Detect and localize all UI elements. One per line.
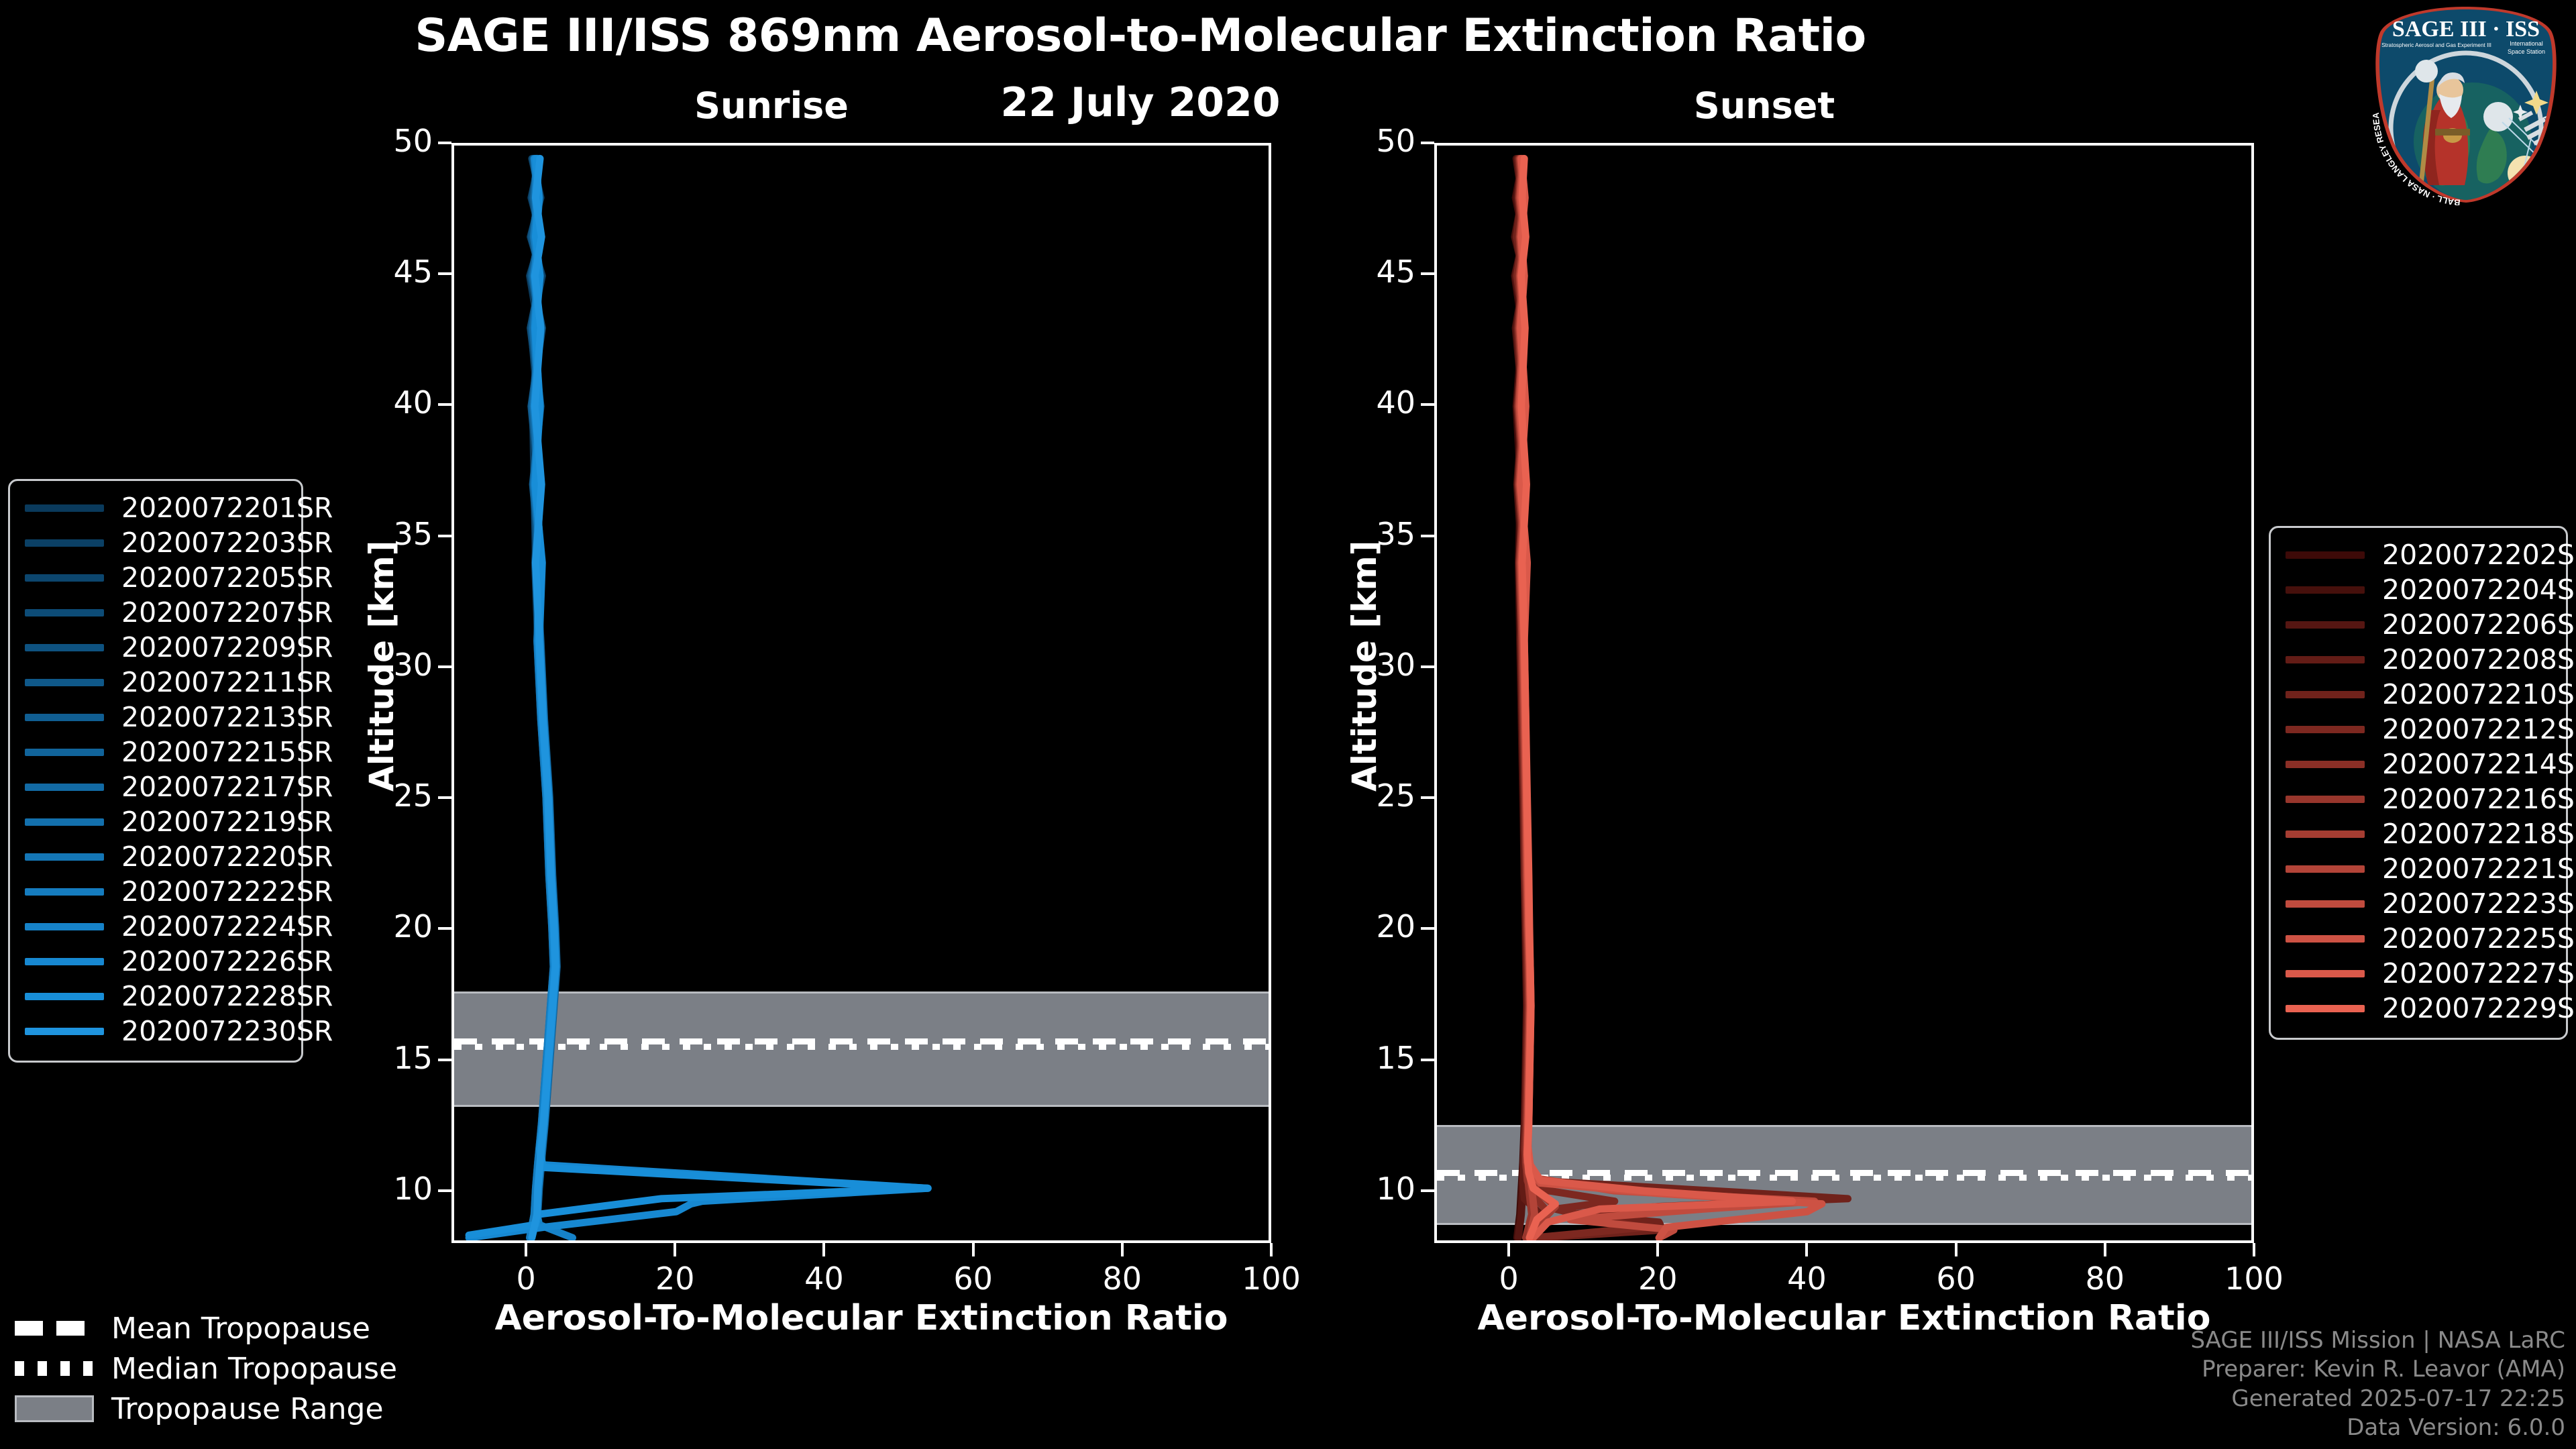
plot-area-sunset bbox=[1437, 146, 2251, 1240]
x-tick-label: 20 bbox=[621, 1260, 729, 1297]
y-tick-label: 15 bbox=[1315, 1040, 1415, 1076]
series-line bbox=[1517, 158, 1847, 1238]
y-tick-mark bbox=[438, 927, 451, 930]
legend-item-label: 2020072223SS bbox=[2382, 888, 2576, 920]
legend-item[interactable]: 2020072225SS bbox=[2286, 921, 2551, 956]
plot-sunset bbox=[1434, 143, 2254, 1243]
legend-item-label: 2020072211SR bbox=[121, 666, 333, 698]
legend-item[interactable]: 2020072218SS bbox=[2286, 816, 2551, 851]
legend-color-swatch bbox=[25, 574, 104, 582]
legend-item-label: 2020072207SR bbox=[121, 596, 333, 629]
y-tick-label: 35 bbox=[1315, 516, 1415, 552]
legend-item-label: 2020072222SR bbox=[121, 875, 333, 908]
logo-subtitle-right-2: Space Station bbox=[2508, 48, 2545, 55]
y-tick-mark bbox=[1421, 1059, 1434, 1061]
legend-item[interactable]: 2020072216SS bbox=[2286, 782, 2551, 816]
x-tick-mark bbox=[674, 1243, 676, 1256]
legend-color-swatch bbox=[2286, 551, 2365, 559]
panel-caption-sunrise: Sunrise bbox=[671, 85, 872, 127]
legend-item[interactable]: 2020072229SS bbox=[2286, 991, 2551, 1026]
series-line bbox=[1517, 158, 1644, 1238]
legend-item-label: 2020072230SR bbox=[121, 1015, 333, 1047]
legend-color-swatch bbox=[25, 784, 104, 791]
tropopause-legend-item: Median Tropopause bbox=[15, 1348, 431, 1389]
legend-color-swatch bbox=[2286, 761, 2365, 768]
legend-color-swatch bbox=[2286, 586, 2365, 594]
legend-color-swatch bbox=[2286, 796, 2365, 803]
legend-color-swatch bbox=[25, 993, 104, 1000]
y-tick-label: 35 bbox=[332, 516, 433, 552]
x-tick-mark bbox=[972, 1243, 975, 1256]
legend-item[interactable]: 2020072214SS bbox=[2286, 747, 2551, 782]
y-tick-mark bbox=[1421, 272, 1434, 275]
legend-color-swatch bbox=[25, 609, 104, 616]
legend-color-swatch bbox=[25, 888, 104, 896]
legend-color-swatch bbox=[2286, 656, 2365, 663]
page-subtitle: 22 July 2020 bbox=[0, 79, 2281, 126]
legend-item-label: 2020072203SR bbox=[121, 527, 333, 559]
legend-color-swatch bbox=[2286, 1005, 2365, 1012]
legend-item[interactable]: 2020072209SR bbox=[25, 630, 286, 665]
tropopause-legend-item: Mean Tropopause bbox=[15, 1308, 431, 1348]
footer-line-preparer: Preparer: Kevin R. Leavor (AMA) bbox=[2190, 1355, 2565, 1384]
y-tick-mark bbox=[438, 535, 451, 537]
x-tick-label: 60 bbox=[1902, 1260, 2010, 1297]
y-tick-mark bbox=[438, 142, 451, 144]
x-tick-label: 40 bbox=[1753, 1260, 1860, 1297]
legend-item-label: 2020072209SR bbox=[121, 631, 333, 663]
x-tick-mark bbox=[1507, 1243, 1510, 1256]
x-tick-mark bbox=[822, 1243, 825, 1256]
legend-color-swatch bbox=[2286, 970, 2365, 977]
legend-color-swatch bbox=[25, 749, 104, 756]
legend-item[interactable]: 2020072211SR bbox=[25, 665, 286, 700]
panel-caption-sunset: Sunset bbox=[1664, 85, 1865, 127]
series-line bbox=[1521, 158, 1792, 1238]
legend-item-label: 2020072217SR bbox=[121, 771, 333, 803]
legend-item-label: 2020072205SR bbox=[121, 561, 333, 594]
legend-item-label: 2020072218SS bbox=[2382, 818, 2576, 850]
y-tick-mark bbox=[1421, 142, 1434, 144]
legend-item[interactable]: 2020072202SS bbox=[2286, 537, 2551, 572]
x-tick-mark bbox=[1656, 1243, 1659, 1256]
legend-item-label: 2020072213SR bbox=[121, 701, 333, 733]
legend-color-swatch bbox=[25, 504, 104, 512]
series-overlay bbox=[1437, 146, 2251, 1240]
legend-color-swatch bbox=[25, 853, 104, 861]
legend-item-label: 2020072214SS bbox=[2382, 748, 2576, 780]
y-tick-mark bbox=[1421, 927, 1434, 930]
footer-line-mission: SAGE III/ISS Mission | NASA LaRC bbox=[2190, 1326, 2565, 1355]
legend-item[interactable]: 2020072204SS bbox=[2286, 572, 2551, 607]
legend-item-label: 2020072212SS bbox=[2382, 713, 2576, 745]
legend-item[interactable]: 2020072208SS bbox=[2286, 642, 2551, 677]
y-tick-label: 30 bbox=[332, 647, 433, 683]
legend-item[interactable]: 2020072205SR bbox=[25, 560, 286, 595]
series-line bbox=[1521, 158, 1556, 1238]
legend-color-swatch bbox=[2286, 691, 2365, 698]
tropopause-legend-item: Tropopause Range bbox=[15, 1389, 431, 1429]
y-tick-label: 45 bbox=[332, 254, 433, 290]
y-tick-mark bbox=[1421, 1189, 1434, 1192]
y-tick-mark bbox=[438, 1189, 451, 1192]
legend-color-swatch bbox=[2286, 935, 2365, 943]
x-tick-mark bbox=[1121, 1243, 1124, 1256]
legend-item[interactable]: 2020072226SR bbox=[25, 944, 286, 979]
legend-item[interactable]: 2020072222SR bbox=[25, 874, 286, 909]
y-tick-mark bbox=[438, 272, 451, 275]
legend-item[interactable]: 2020072215SR bbox=[25, 735, 286, 769]
tropopause-legend-swatch-dashed bbox=[15, 1321, 94, 1336]
tropopause-legend-swatch-dotted bbox=[15, 1361, 94, 1376]
x-axis-label-sunrise: Aerosol-To-Molecular Extinction Ratio bbox=[451, 1298, 1271, 1338]
legend-item-label: 2020072225SS bbox=[2382, 922, 2576, 955]
y-tick-mark bbox=[1421, 665, 1434, 668]
plot-sunrise bbox=[451, 143, 1271, 1243]
y-tick-label: 25 bbox=[332, 777, 433, 814]
x-tick-label: 100 bbox=[1218, 1260, 1325, 1297]
tropopause-legend-label: Mean Tropopause bbox=[111, 1311, 370, 1346]
legend-color-swatch bbox=[25, 644, 104, 651]
legend-color-swatch bbox=[25, 1028, 104, 1035]
legend-item[interactable]: 2020072224SR bbox=[25, 909, 286, 944]
legend-item[interactable]: 2020072219SR bbox=[25, 804, 286, 839]
legend-item[interactable]: 2020072230SR bbox=[25, 1014, 286, 1049]
legend-item-label: 2020072220SR bbox=[121, 841, 333, 873]
y-tick-label: 20 bbox=[1315, 908, 1415, 945]
legend-item-label: 2020072206SS bbox=[2382, 608, 2576, 641]
legend-item[interactable]: 2020072227SS bbox=[2286, 956, 2551, 991]
tropopause-legend-label: Median Tropopause bbox=[111, 1352, 397, 1386]
x-tick-mark bbox=[1270, 1243, 1273, 1256]
y-tick-label: 10 bbox=[332, 1171, 433, 1207]
x-tick-label: 80 bbox=[1069, 1260, 1176, 1297]
legend-item-label: 2020072201SR bbox=[121, 492, 333, 524]
tropopause-legend-label: Tropopause Range bbox=[111, 1392, 384, 1426]
legend-color-swatch bbox=[2286, 900, 2365, 908]
x-tick-mark bbox=[525, 1243, 527, 1256]
legend-item-label: 2020072216SS bbox=[2382, 783, 2576, 815]
legend-item-label: 2020072221SS bbox=[2382, 853, 2576, 885]
legend-item-label: 2020072229SS bbox=[2382, 992, 2576, 1024]
legend-item[interactable]: 2020072221SS bbox=[2286, 851, 2551, 886]
y-tick-label: 50 bbox=[332, 123, 433, 159]
legend-color-swatch bbox=[2286, 865, 2365, 873]
series-line bbox=[1520, 158, 1815, 1238]
x-tick-label: 80 bbox=[2051, 1260, 2159, 1297]
logo-title: SAGE III · ISS bbox=[2392, 17, 2540, 42]
legend-item[interactable]: 2020072210SS bbox=[2286, 677, 2551, 712]
legend-color-swatch bbox=[25, 714, 104, 721]
x-tick-label: 0 bbox=[1455, 1260, 1562, 1297]
page-title: SAGE III/ISS 869nm Aerosol-to-Molecular … bbox=[0, 9, 2281, 62]
legend-item[interactable]: 2020072220SR bbox=[25, 839, 286, 874]
legend-item-label: 2020072204SS bbox=[2382, 574, 2576, 606]
y-tick-label: 30 bbox=[1315, 647, 1415, 683]
y-tick-mark bbox=[438, 1059, 451, 1061]
footer-line-version: Data Version: 6.0.0 bbox=[2190, 1413, 2565, 1442]
legend-item[interactable]: 2020072212SS bbox=[2286, 712, 2551, 747]
legend-color-swatch bbox=[2286, 621, 2365, 629]
x-tick-mark bbox=[2104, 1243, 2106, 1256]
logo-subtitle-left: Stratospheric Aerosol and Gas Experiment… bbox=[2381, 42, 2491, 48]
legend-color-swatch bbox=[25, 818, 104, 826]
x-tick-mark bbox=[2253, 1243, 2255, 1256]
legend-color-swatch bbox=[25, 679, 104, 686]
legend-item[interactable]: 2020072201SR bbox=[25, 490, 286, 525]
y-tick-mark bbox=[1421, 403, 1434, 406]
footer-line-generated: Generated 2025-07-17 22:25 bbox=[2190, 1385, 2565, 1413]
legend-item-label: 2020072202SS bbox=[2382, 539, 2576, 571]
legend-color-swatch bbox=[2286, 726, 2365, 733]
legend-item[interactable]: 2020072213SR bbox=[25, 700, 286, 735]
x-tick-mark bbox=[1955, 1243, 1957, 1256]
x-axis-label-sunset: Aerosol-To-Molecular Extinction Ratio bbox=[1434, 1298, 2254, 1338]
footer-credits: SAGE III/ISS Mission | NASA LaRC Prepare… bbox=[2190, 1326, 2565, 1442]
x-tick-label: 20 bbox=[1604, 1260, 1711, 1297]
legend-item-label: 2020072208SS bbox=[2382, 643, 2576, 676]
legend-item[interactable]: 2020072206SS bbox=[2286, 607, 2551, 642]
y-tick-label: 20 bbox=[332, 908, 433, 945]
y-tick-label: 50 bbox=[1315, 123, 1415, 159]
y-tick-mark bbox=[438, 796, 451, 799]
legend-item[interactable]: 2020072203SR bbox=[25, 525, 286, 560]
legend-item-label: 2020072210SS bbox=[2382, 678, 2576, 710]
legend-item-label: 2020072219SR bbox=[121, 806, 333, 838]
y-tick-label: 40 bbox=[332, 384, 433, 421]
legend-tropopause: Mean TropopauseMedian TropopauseTropopau… bbox=[15, 1308, 431, 1429]
x-tick-label: 0 bbox=[472, 1260, 580, 1297]
y-tick-mark bbox=[1421, 796, 1434, 799]
y-tick-label: 45 bbox=[1315, 254, 1415, 290]
legend-item-label: 2020072227SS bbox=[2382, 957, 2576, 989]
legend-item-label: 2020072215SR bbox=[121, 736, 333, 768]
legend-sunset[interactable]: 2020072202SS2020072204SS2020072206SS2020… bbox=[2269, 526, 2568, 1040]
x-tick-mark bbox=[1805, 1243, 1808, 1256]
legend-color-swatch bbox=[25, 923, 104, 930]
y-tick-mark bbox=[438, 665, 451, 668]
x-tick-label: 60 bbox=[920, 1260, 1027, 1297]
legend-item[interactable]: 2020072223SS bbox=[2286, 886, 2551, 921]
legend-color-swatch bbox=[25, 958, 104, 965]
y-tick-mark bbox=[1421, 535, 1434, 537]
y-tick-label: 40 bbox=[1315, 384, 1415, 421]
x-tick-label: 40 bbox=[770, 1260, 877, 1297]
plot-area-sunrise bbox=[454, 146, 1269, 1240]
y-tick-label: 25 bbox=[1315, 777, 1415, 814]
legend-item[interactable]: 2020072228SR bbox=[25, 979, 286, 1014]
legend-color-swatch bbox=[25, 539, 104, 547]
legend-item-label: 2020072224SR bbox=[121, 910, 333, 943]
y-tick-mark bbox=[438, 403, 451, 406]
logo-subtitle-right-1: International bbox=[2510, 40, 2543, 47]
sage-iii-iss-mission-patch-logo: SAGE III · ISS Stratospheric Aerosol and… bbox=[2365, 4, 2567, 205]
series-line bbox=[1520, 158, 1822, 1238]
y-tick-label: 15 bbox=[332, 1040, 433, 1076]
series-overlay bbox=[454, 146, 1269, 1240]
legend-item-label: 2020072228SR bbox=[121, 980, 333, 1012]
legend-item-label: 2020072226SR bbox=[121, 945, 333, 977]
legend-sunrise[interactable]: 2020072201SR2020072203SR2020072205SR2020… bbox=[8, 479, 303, 1063]
legend-item[interactable]: 2020072217SR bbox=[25, 769, 286, 804]
y-tick-label: 10 bbox=[1315, 1171, 1415, 1207]
legend-item[interactable]: 2020072207SR bbox=[25, 595, 286, 630]
tropopause-legend-swatch-patch bbox=[15, 1395, 94, 1422]
x-tick-label: 100 bbox=[2200, 1260, 2308, 1297]
legend-color-swatch bbox=[2286, 830, 2365, 838]
